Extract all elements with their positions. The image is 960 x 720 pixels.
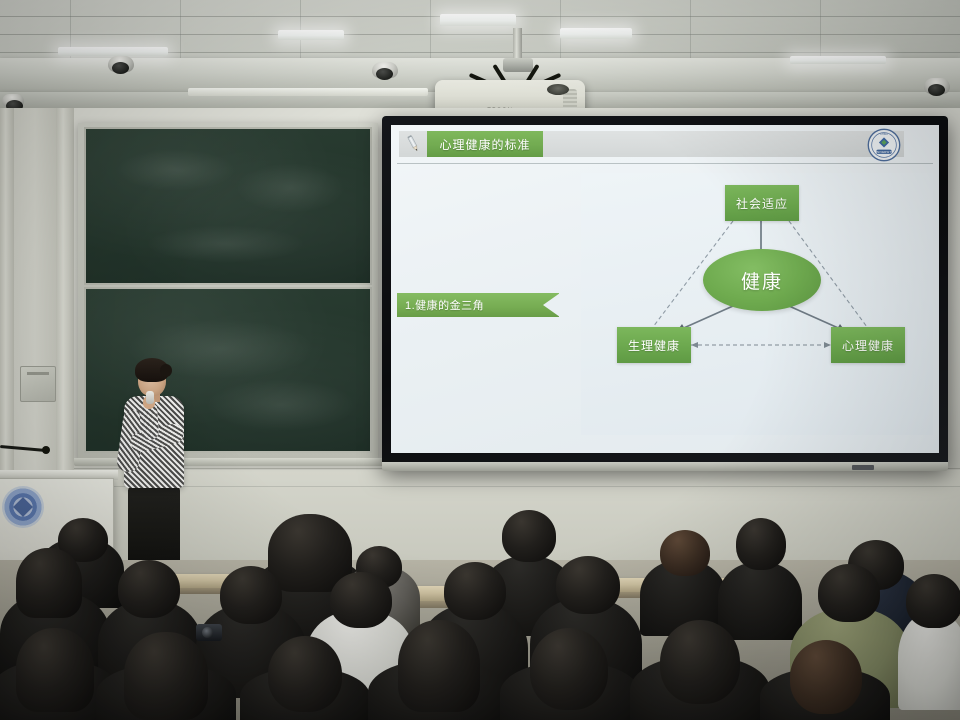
audience-head bbox=[330, 572, 392, 628]
audience-head bbox=[790, 640, 862, 714]
security-camera-icon bbox=[2, 94, 24, 107]
diagram-node-physical-label: 生理健康 bbox=[628, 337, 680, 354]
audience-head bbox=[818, 564, 880, 622]
svg-text:CHINA: CHINA bbox=[880, 133, 888, 136]
audience-head bbox=[736, 518, 786, 570]
diagram-node-mental: 心理健康 bbox=[831, 327, 905, 363]
diagram-node-physical: 生理健康 bbox=[617, 327, 691, 363]
projector-lens bbox=[547, 84, 569, 95]
security-camera-icon bbox=[108, 56, 134, 72]
handheld-microphone-icon bbox=[146, 391, 154, 404]
ceiling-light bbox=[278, 30, 344, 40]
presenter-hair-bun bbox=[160, 364, 172, 377]
audience-head bbox=[398, 620, 480, 712]
audience-head bbox=[906, 574, 960, 628]
university-emblem-icon bbox=[2, 486, 44, 528]
security-camera-icon bbox=[372, 62, 398, 78]
smart-display[interactable]: 心理健康的标准 UNIVERSITY CHINA 1.健康的金三角 bbox=[382, 116, 948, 468]
slide-section-label: 1.健康的金三角 bbox=[405, 297, 484, 313]
wall-column bbox=[56, 108, 74, 508]
audience-head bbox=[444, 562, 506, 620]
audience-head bbox=[530, 628, 608, 710]
display-brand-mark bbox=[852, 465, 874, 470]
audience-head bbox=[660, 620, 740, 704]
audience-head bbox=[16, 548, 82, 618]
wall-control-panel[interactable] bbox=[20, 366, 56, 402]
diagram-node-social: 社会适应 bbox=[725, 185, 799, 221]
pencil-icon bbox=[403, 134, 423, 154]
audience-head bbox=[124, 632, 208, 720]
slide-header-divider bbox=[397, 163, 933, 164]
classroom-scene: EPSON bbox=[0, 0, 960, 720]
projector-pole bbox=[513, 28, 522, 62]
handheld-camera bbox=[196, 624, 222, 641]
ceiling-light bbox=[58, 47, 168, 56]
diagram-panel: 社会适应 健康 生理健康 心理健康 bbox=[581, 173, 933, 435]
diagram-node-social-label: 社会适应 bbox=[736, 195, 788, 212]
slide-title-banner: 心理健康的标准 bbox=[427, 131, 543, 157]
ceiling-light bbox=[790, 56, 886, 64]
audience-head bbox=[502, 510, 556, 562]
diagram-node-health: 健康 bbox=[703, 249, 821, 311]
audience-head bbox=[220, 566, 282, 624]
chalkboard-frame bbox=[78, 123, 378, 461]
presentation-slide: 心理健康的标准 UNIVERSITY CHINA 1.健康的金三角 bbox=[391, 125, 939, 453]
audience-head bbox=[660, 530, 710, 576]
ceiling-light bbox=[440, 14, 516, 26]
audience-head bbox=[118, 560, 180, 618]
ceiling-light-tube bbox=[188, 88, 428, 96]
audience-head bbox=[16, 628, 94, 712]
audience-head bbox=[556, 556, 620, 614]
security-camera-icon bbox=[924, 78, 950, 94]
diagram-node-mental-label: 心理健康 bbox=[842, 337, 894, 354]
diagram-node-health-label: 健康 bbox=[741, 267, 783, 294]
svg-text:UNIVERSITY: UNIVERSITY bbox=[875, 150, 893, 154]
audience-person bbox=[718, 562, 802, 640]
display-screen[interactable]: 心理健康的标准 UNIVERSITY CHINA 1.健康的金三角 bbox=[391, 125, 939, 453]
audience-head bbox=[268, 636, 342, 712]
ceiling-light bbox=[560, 28, 632, 39]
university-seal-icon: UNIVERSITY CHINA bbox=[867, 128, 901, 162]
slide-title: 心理健康的标准 bbox=[439, 136, 530, 153]
microphone-head-icon bbox=[42, 446, 50, 454]
display-bottom-rail bbox=[382, 462, 948, 471]
chalkboard-panel-upper bbox=[84, 127, 372, 285]
slide-section-ribbon: 1.健康的金三角 bbox=[397, 293, 559, 317]
